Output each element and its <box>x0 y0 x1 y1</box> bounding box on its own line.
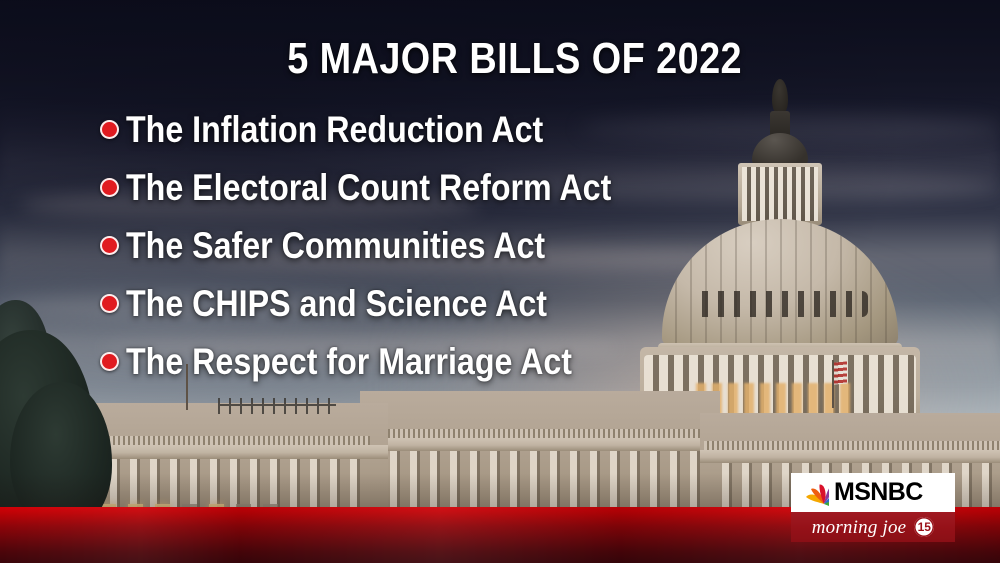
capitol-right-cornice <box>700 450 1000 463</box>
bullet-icon <box>100 236 119 255</box>
list-item: The Safer Communities Act <box>100 216 684 274</box>
bullet-icon <box>100 178 119 197</box>
bullet-icon <box>100 120 119 139</box>
anniversary-badge: 15 <box>914 517 934 537</box>
list-item: The Electoral Count Reform Act <box>100 158 684 216</box>
capitol-right-balustrade <box>704 441 1000 450</box>
statue-of-freedom <box>772 79 788 113</box>
list-item-label: The Safer Communities Act <box>126 227 545 264</box>
morning-joe-badge: morning joe 15 <box>791 512 955 542</box>
bill-list: The Inflation Reduction Act The Electora… <box>100 100 684 390</box>
capitol-center-cornice <box>358 438 722 451</box>
list-item: The Inflation Reduction Act <box>100 100 684 158</box>
bullet-icon <box>100 294 119 313</box>
list-item-label: The CHIPS and Science Act <box>126 285 547 322</box>
broadcast-graphic: 5 MAJOR BILLS OF 2022 The Inflation Redu… <box>0 0 1000 563</box>
dome-ribs <box>662 219 898 351</box>
list-item: The CHIPS and Science Act <box>100 274 684 332</box>
morning-joe-wordmark: morning joe <box>812 518 907 537</box>
list-item: The Respect for Marriage Act <box>100 332 684 390</box>
dome-cupola <box>752 133 808 167</box>
msnbc-wordmark: MSNBC <box>834 480 923 505</box>
network-bug: MSNBC morning joe 15 <box>791 473 955 542</box>
bullet-icon <box>100 352 119 371</box>
msnbc-logo: MSNBC <box>791 473 955 512</box>
nbc-peacock-icon <box>798 480 829 506</box>
page-title: 5 MAJOR BILLS OF 2022 <box>70 34 930 84</box>
capitol-center-balustrade <box>360 429 720 438</box>
dome-windows <box>692 291 868 317</box>
list-item-label: The Inflation Reduction Act <box>126 111 543 148</box>
us-flag <box>834 361 847 384</box>
roof-scaffolding <box>218 398 336 414</box>
list-item-label: The Electoral Count Reform Act <box>126 169 611 206</box>
tholos-columns <box>742 167 818 221</box>
list-item-label: The Respect for Marriage Act <box>126 343 572 380</box>
